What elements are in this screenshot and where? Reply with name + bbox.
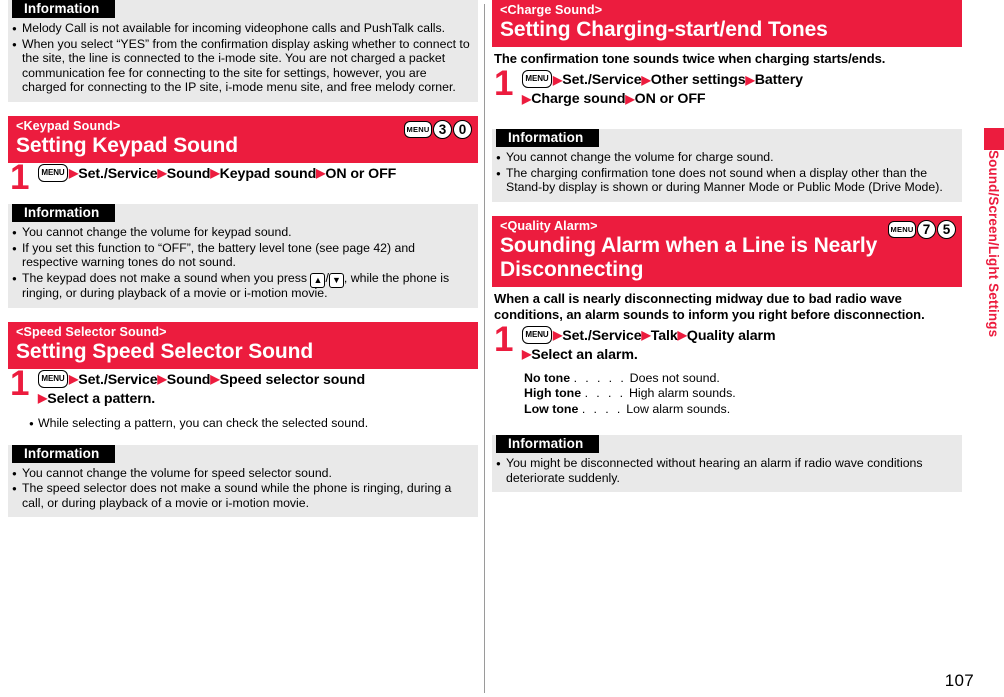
information-item: The keypad does not make a sound when yo…	[8, 271, 478, 301]
triangle-icon: ▶	[157, 372, 166, 386]
step-part: Charge sound	[531, 91, 625, 107]
step-speed-selector-sound: 1 MENU▶Set./Service▶Sound▶Speed selector…	[8, 369, 478, 409]
information-item: You cannot change the volume for speed s…	[8, 466, 478, 481]
arrow-up-key-icon: ▲	[310, 273, 325, 288]
triangle-icon: ▶	[625, 92, 634, 106]
menu-key-icon: MENU	[404, 121, 432, 138]
alarm-option-description: Does not sound.	[630, 371, 720, 387]
alarm-option-term: High tone	[524, 386, 581, 402]
information-box-charge-sound: Information You cannot change the volume…	[492, 129, 962, 202]
step-part: Other settings	[651, 72, 746, 88]
triangle-icon: ▶	[678, 328, 687, 342]
alarm-option-term: Low tone	[524, 402, 578, 418]
section-title: Sounding Alarm when a Line is Nearly Dis…	[500, 234, 954, 282]
information-box-speed-selector-sound: Information You cannot change the volume…	[8, 445, 478, 518]
step-instruction: MENU▶Set./Service▶Sound▶Speed selector s…	[38, 371, 474, 409]
step-part: ON or OFF	[325, 166, 396, 182]
step-part: Select a pattern.	[47, 391, 155, 407]
step-part: Quality alarm	[687, 328, 776, 344]
key-shortcut-group: MENU 7 5	[888, 220, 956, 239]
leader-dots: . . . . .	[574, 371, 627, 387]
step-part: Keypad sound	[220, 166, 317, 182]
step-charge-sound: 1 MENU▶Set./Service▶Other settings▶Batte…	[492, 69, 962, 109]
triangle-icon: ▶	[210, 166, 219, 180]
information-box-quality-alarm: Information You might be disconnected wi…	[492, 435, 962, 492]
spacer	[8, 431, 478, 445]
triangle-icon: ▶	[553, 73, 562, 87]
spacer	[8, 195, 478, 204]
menu-key-icon: MENU	[38, 164, 68, 182]
triangle-icon: ▶	[210, 372, 219, 386]
section-banner-speed-selector-sound: <Speed Selector Sound> Setting Speed Sel…	[8, 322, 478, 369]
column-divider	[484, 4, 485, 693]
step-part: Talk	[651, 328, 678, 344]
triangle-icon: ▶	[522, 92, 531, 106]
triangle-icon: ▶	[641, 328, 650, 342]
section-subtitle: <Quality Alarm>	[500, 219, 954, 234]
section-banner-charge-sound: <Charge Sound> Setting Charging-start/en…	[492, 0, 962, 47]
menu-key-icon: MENU	[888, 221, 916, 238]
numeric-key-icon: 0	[453, 120, 472, 139]
step-part: Battery	[755, 72, 803, 88]
section-title: Setting Keypad Sound	[16, 134, 470, 158]
thumb-tab-label: Sound/Screen/Light Settings	[982, 150, 1004, 570]
step-keypad-sound: 1 MENU▶Set./Service▶Sound▶Keypad sound▶O…	[8, 163, 478, 195]
step-number: 1	[10, 160, 29, 195]
step-number: 1	[10, 366, 29, 401]
alarm-option-row: Low tone . . . . Low alarm sounds.	[524, 402, 958, 418]
spacer	[8, 308, 478, 322]
menu-key-icon: MENU	[522, 70, 552, 88]
information-label: Information	[496, 129, 599, 147]
section-lead-text: When a call is nearly disconnecting midw…	[492, 287, 962, 325]
numeric-key-icon: 3	[433, 120, 452, 139]
leader-dots: . . . .	[585, 386, 626, 402]
triangle-icon: ▶	[641, 73, 650, 87]
alarm-option-description: High alarm sounds.	[629, 386, 736, 402]
information-box-keypad-sound: Information You cannot change the volume…	[8, 204, 478, 308]
information-item: You might be disconnected without hearin…	[492, 456, 962, 485]
section-lead-line2: conditions, an alarm sounds to inform yo…	[494, 307, 925, 322]
information-label: Information	[496, 435, 599, 453]
information-item-text: The keypad does not make a sound when yo…	[22, 271, 310, 285]
manual-page: Information Melody Call is not available…	[0, 0, 1004, 697]
section-banner-quality-alarm: <Quality Alarm> Sounding Alarm when a Li…	[492, 216, 962, 287]
alarm-option-row: High tone . . . . High alarm sounds.	[524, 386, 958, 402]
section-banner-keypad-sound: <Keypad Sound> Setting Keypad Sound MENU…	[8, 116, 478, 163]
spacer	[492, 109, 962, 129]
spacer	[492, 421, 962, 435]
menu-key-icon: MENU	[522, 326, 552, 344]
step-number: 1	[494, 322, 513, 357]
step-instruction: MENU▶Set./Service▶Sound▶Keypad sound▶ON …	[38, 165, 474, 184]
information-item: The charging confirmation tone does not …	[492, 166, 962, 195]
triangle-icon: ▶	[553, 328, 562, 342]
page-number: 107	[945, 671, 974, 691]
thumb-tab-marker	[984, 128, 1004, 150]
menu-key-icon: MENU	[38, 370, 68, 388]
section-title-line2: Disconnecting	[500, 258, 643, 281]
step-part: Speed selector sound	[220, 372, 365, 388]
step-part: Set./Service	[78, 372, 157, 388]
triangle-icon: ▶	[746, 73, 755, 87]
arrow-down-key-icon: ▼	[329, 273, 344, 288]
triangle-icon: ▶	[157, 166, 166, 180]
triangle-icon: ▶	[316, 166, 325, 180]
information-box-melody-call: Information Melody Call is not available…	[8, 0, 478, 102]
information-item: Melody Call is not available for incomin…	[8, 21, 478, 36]
alarm-option-description: Low alarm sounds.	[626, 402, 730, 418]
triangle-icon: ▶	[69, 166, 78, 180]
spacer	[492, 202, 962, 216]
section-title: Setting Speed Selector Sound	[16, 340, 470, 364]
information-item: When you select “YES” from the confirmat…	[8, 37, 478, 95]
information-label: Information	[12, 204, 115, 222]
step-number: 1	[494, 66, 513, 101]
information-item: You cannot change the volume for charge …	[492, 150, 962, 165]
step-part: Set./Service	[78, 166, 157, 182]
triangle-icon: ▶	[522, 347, 531, 361]
section-subtitle: <Speed Selector Sound>	[16, 325, 470, 340]
step-part: Set./Service	[562, 328, 641, 344]
information-label: Information	[12, 445, 115, 463]
section-subtitle: <Keypad Sound>	[16, 119, 470, 134]
information-item: The speed selector does not make a sound…	[8, 481, 478, 510]
step-part: Sound	[167, 372, 211, 388]
triangle-icon: ▶	[38, 391, 47, 405]
left-column: Information Melody Call is not available…	[8, 0, 478, 517]
alarm-option-term: No tone	[524, 371, 570, 387]
section-lead-line1: When a call is nearly disconnecting midw…	[494, 291, 902, 306]
step-quality-alarm: 1 MENU▶Set./Service▶Talk▶Quality alarm ▶…	[492, 325, 962, 365]
numeric-key-icon: 5	[937, 220, 956, 239]
step-part: ON or OFF	[635, 91, 706, 107]
numeric-key-icon: 7	[917, 220, 936, 239]
section-subtitle: <Charge Sound>	[500, 3, 954, 18]
step-instruction: MENU▶Set./Service▶Talk▶Quality alarm ▶Se…	[522, 327, 958, 365]
section-title: Setting Charging-start/end Tones	[500, 18, 954, 42]
information-label: Information	[12, 0, 115, 18]
section-title-line1: Sounding Alarm when a Line is Nearly	[500, 234, 877, 257]
alarm-options-list: No tone . . . . . Does not sound. High t…	[492, 365, 962, 422]
step-instruction-line2: ▶Charge sound▶ON or OFF	[522, 90, 958, 109]
section-lead-text: The confirmation tone sounds twice when …	[492, 47, 962, 69]
spacer	[8, 102, 478, 116]
information-item: If you set this function to “OFF”, the b…	[8, 241, 478, 270]
step-part: Select an alarm.	[531, 347, 637, 363]
step-instruction-line2: ▶Select a pattern.	[38, 390, 474, 409]
chapter-thumb-tab: Sound/Screen/Light Settings	[982, 0, 1004, 697]
right-column: <Charge Sound> Setting Charging-start/en…	[492, 0, 962, 492]
step-part: Set./Service	[562, 72, 641, 88]
triangle-icon: ▶	[69, 372, 78, 386]
step-note: While selecting a pattern, you can check…	[8, 416, 478, 431]
step-part: Sound	[167, 166, 211, 182]
information-item: You cannot change the volume for keypad …	[8, 225, 478, 240]
step-instruction: MENU▶Set./Service▶Other settings▶Battery…	[522, 71, 958, 109]
step-instruction-line2: ▶Select an alarm.	[522, 346, 958, 365]
alarm-option-row: No tone . . . . . Does not sound.	[524, 371, 958, 387]
leader-dots: . . . .	[582, 402, 623, 418]
key-shortcut-group: MENU 3 0	[404, 120, 472, 139]
